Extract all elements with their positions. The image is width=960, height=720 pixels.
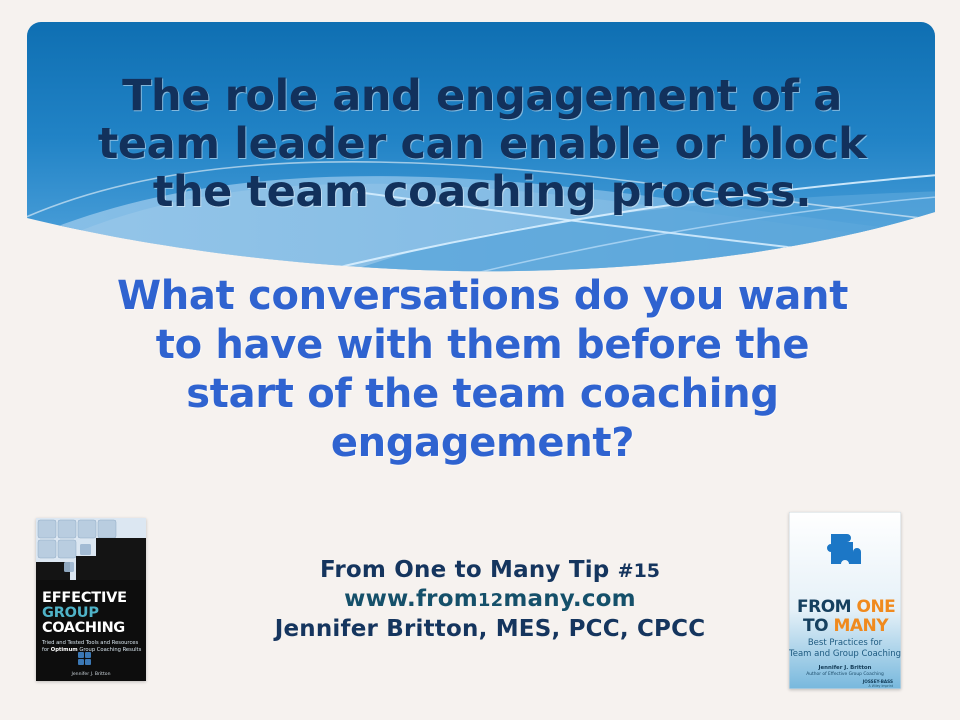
website-line[interactable]: www.from12many.com: [230, 585, 750, 615]
headline-text: The role and engagement of a team leader…: [48, 72, 916, 216]
book-right-subtitle-2: Team and Group Coaching: [789, 649, 901, 659]
headline-line-1: The role and engagement of a: [48, 72, 916, 120]
book-left-title-3: COACHING: [42, 620, 125, 636]
book-right-publisher-sub: A Wiley Imprint: [869, 684, 894, 688]
book-left-subtitle-2: for Optimum Group Coaching Results: [42, 647, 142, 653]
website-suffix: many.com: [503, 586, 635, 612]
question-line-3: start of the team coaching: [60, 370, 905, 419]
website-number: 12: [478, 590, 503, 611]
book-right-title-line2: TO MANY: [803, 616, 889, 636]
headline-line-3: the team coaching process.: [48, 168, 916, 216]
book-right-author: Jennifer J. Britton: [818, 665, 872, 671]
author-line: Jennifer Britton, MES, PCC, CPCC: [230, 615, 750, 643]
book-cover-effective-group-coaching[interactable]: EFFECTIVE GROUP COACHING Tried and Teste…: [36, 518, 146, 681]
tip-label: From One to Many Tip: [320, 557, 618, 583]
book-left-subtitle-1: Tried and Tested Tools and Resources: [41, 640, 138, 646]
slide-canvas: The role and engagement of a team leader…: [0, 0, 960, 720]
book-left-title-2: GROUP: [42, 605, 99, 621]
book-right-title-line1: FROM ONE: [797, 597, 895, 617]
question-line-4: engagement?: [60, 419, 905, 468]
book-cover-from-one-to-many[interactable]: FROM ONE TO MANY Best Practices for Team…: [789, 512, 901, 689]
book-right-artwork: FROM ONE TO MANY Best Practices for Team…: [789, 512, 901, 689]
credit-block: From One to Many Tip #15 www.from12many.…: [230, 556, 750, 643]
question-text: What conversations do you want to have w…: [60, 272, 905, 468]
book-left-title-1: EFFECTIVE: [42, 590, 127, 606]
question-line-1: What conversations do you want: [60, 272, 905, 321]
book-left-artwork: EFFECTIVE GROUP COACHING Tried and Teste…: [36, 518, 146, 681]
tip-line: From One to Many Tip #15: [230, 556, 750, 585]
book-right-subtitle-1: Best Practices for: [808, 638, 883, 648]
book-right-author-sub: Author of Effective Group Coaching: [806, 671, 884, 677]
website-prefix: www.from: [344, 586, 478, 612]
tip-number: #15: [618, 560, 660, 582]
book-left-author: Jennifer J. Britton: [71, 671, 111, 677]
headline-line-2: team leader can enable or block: [48, 120, 916, 168]
question-line-2: to have with them before the: [60, 321, 905, 370]
